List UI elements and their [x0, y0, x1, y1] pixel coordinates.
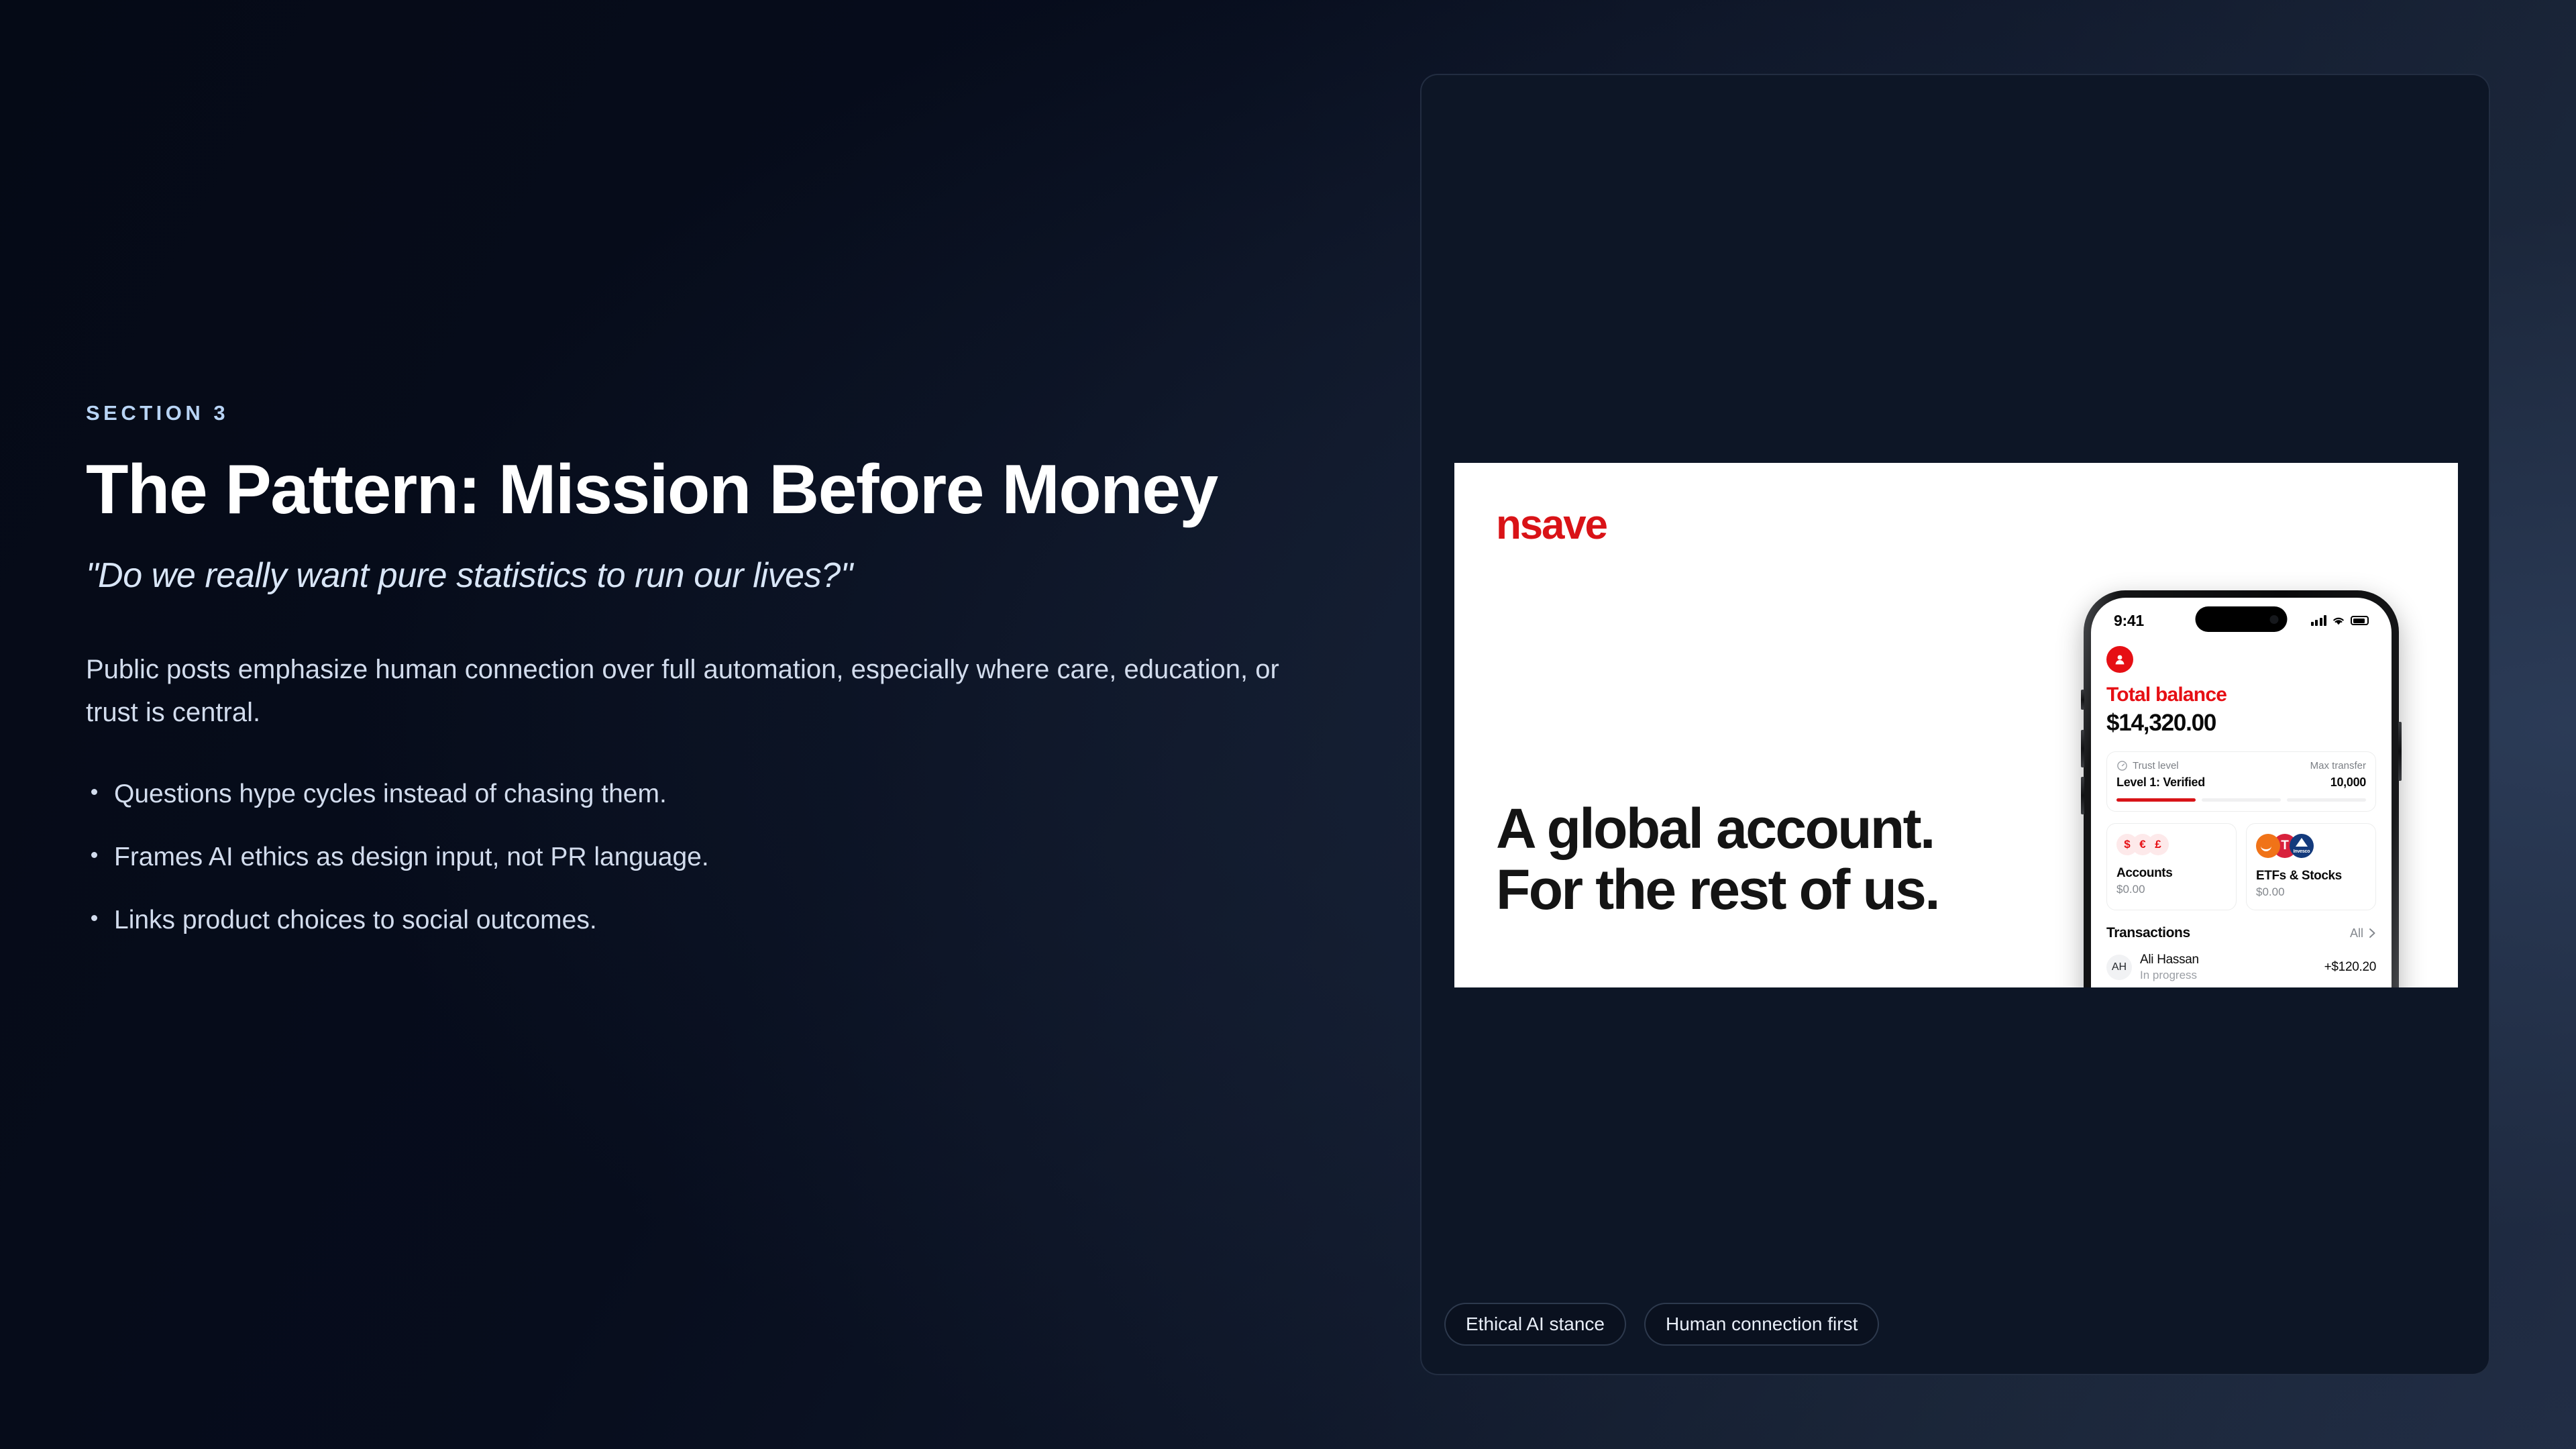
account-tiles: $ € £ Accounts $0.00	[2106, 823, 2376, 910]
dynamic-island	[2196, 606, 2288, 632]
phone-power-button	[2398, 722, 2402, 781]
tile-value: $0.00	[2256, 885, 2366, 899]
page-title: The Pattern: Mission Before Money	[86, 453, 1360, 527]
bullet-list: Questions hype cycles instead of chasing…	[86, 776, 1360, 938]
status-time: 9:41	[2114, 612, 2144, 630]
tile-title: ETFs & Stocks	[2256, 869, 2366, 883]
phone-frame: 9:41	[2084, 590, 2399, 987]
tile-value: $0.00	[2116, 883, 2226, 896]
tile-title: Accounts	[2116, 866, 2226, 881]
currency-icons: $ € £	[2116, 834, 2226, 855]
fund-logo-icons: T Invesco	[2256, 834, 2366, 858]
avatar: AH	[2106, 955, 2132, 980]
chevron-right-icon	[2369, 928, 2376, 938]
invesco-logo-icon: Invesco	[2290, 834, 2314, 858]
phone-content: Total balance $14,320.00 T	[2091, 646, 2392, 982]
list-item: Frames AI ethics as design input, not PR…	[86, 839, 1360, 875]
wifi-icon	[2332, 616, 2345, 626]
phone-mute-switch	[2081, 690, 2084, 710]
phone-mockup: 9:41	[2084, 590, 2399, 987]
nsave-logo: nsave	[1496, 504, 1607, 546]
transaction-name: Ali Hassan	[2140, 953, 2324, 967]
body-paragraph: Public posts emphasize human connection …	[86, 648, 1287, 735]
balance-amount: $14,320.00	[2106, 710, 2376, 737]
all-label: All	[2350, 926, 2363, 941]
profile-avatar-icon[interactable]	[2106, 646, 2133, 673]
status-icons	[2311, 615, 2369, 626]
trust-progress-bar	[2116, 798, 2366, 802]
media-panel-card: nsave A global account. For the rest of …	[1420, 74, 2490, 1375]
pull-quote: "Do we really want pure statistics to ru…	[86, 555, 1360, 596]
pound-coin-icon: £	[2147, 834, 2169, 855]
orange-fund-logo-icon	[2256, 834, 2280, 858]
transactions-title: Transactions	[2106, 925, 2190, 941]
balance-label: Total balance	[2106, 684, 2376, 706]
slide-root: SECTION 3 The Pattern: Mission Before Mo…	[0, 0, 2576, 1449]
table-row[interactable]: AH Ali Hassan In progress +$120.20	[2106, 953, 2376, 982]
status-badge: In progress	[2140, 969, 2324, 982]
chip-ethical-ai-stance[interactable]: Ethical AI stance	[1444, 1303, 1626, 1346]
front-camera-icon	[2270, 615, 2279, 624]
trust-level-card[interactable]: Trust level Max transfer Level 1: Verifi…	[2106, 751, 2376, 812]
battery-icon	[2351, 616, 2369, 625]
progress-segment	[2287, 798, 2366, 802]
status-bar: 9:41	[2091, 598, 2392, 637]
accounts-tile[interactable]: $ € £ Accounts $0.00	[2106, 823, 2237, 910]
gauge-icon	[2116, 760, 2128, 771]
transaction-details: Ali Hassan In progress	[2140, 953, 2324, 982]
left-content-column: SECTION 3 The Pattern: Mission Before Mo…	[86, 402, 1360, 938]
etfs-stocks-tile[interactable]: T Invesco ETFs & Stocks $0.00	[2246, 823, 2376, 910]
trust-card-header: Trust level Max transfer	[2116, 760, 2366, 771]
chip-human-connection-first[interactable]: Human connection first	[1644, 1303, 1879, 1346]
phone-screen: 9:41	[2091, 598, 2392, 987]
transaction-amount: +$120.20	[2324, 960, 2376, 975]
section-eyebrow: SECTION 3	[86, 402, 1360, 423]
max-transfer-label: Max transfer	[2310, 760, 2366, 771]
progress-segment	[2116, 798, 2196, 802]
max-transfer-value: 10,000	[2330, 775, 2366, 790]
phone-volume-down-button	[2081, 777, 2084, 814]
progress-segment	[2202, 798, 2281, 802]
trust-level-value: Level 1: Verified	[2116, 775, 2205, 790]
invesco-label: Invesco	[2294, 849, 2310, 858]
list-item: Links product choices to social outcomes…	[86, 902, 1360, 938]
marketing-headline: A global account. For the rest of us.	[1496, 798, 1939, 920]
signal-bars-icon	[2311, 615, 2327, 626]
transactions-all-link[interactable]: All	[2350, 926, 2376, 941]
trust-label-group: Trust level	[2116, 760, 2179, 771]
phone-volume-up-button	[2081, 730, 2084, 767]
list-item: Questions hype cycles instead of chasing…	[86, 776, 1360, 812]
trust-card-values: Level 1: Verified 10,000	[2116, 775, 2366, 790]
tag-chip-group: Ethical AI stance Human connection first	[1444, 1303, 1879, 1346]
nsave-marketing-image: nsave A global account. For the rest of …	[1454, 463, 2458, 987]
transactions-header: Transactions All	[2106, 925, 2376, 941]
trust-level-label: Trust level	[2133, 760, 2179, 771]
